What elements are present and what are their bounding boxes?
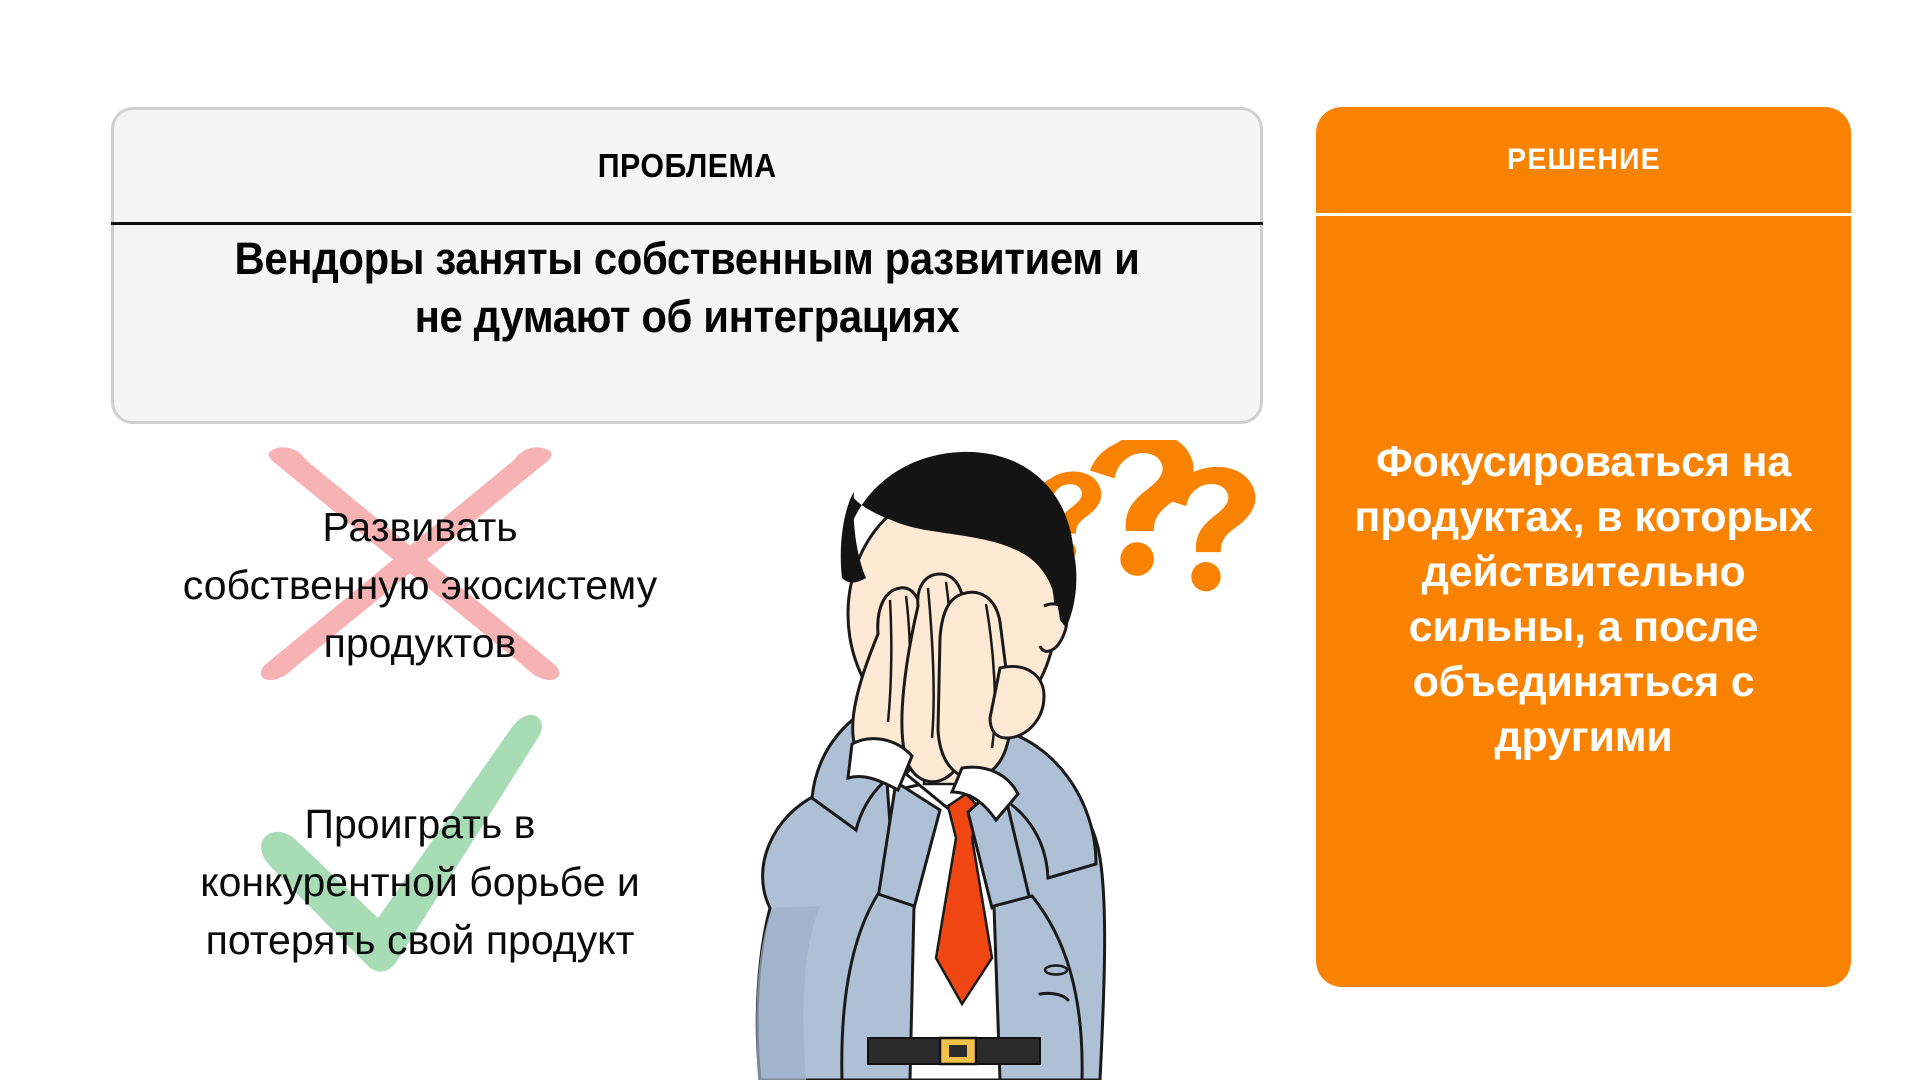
problem-statement-line-1: Вендоры заняты собственным развитием и	[178, 230, 1195, 288]
positive-statement-line-1: Проиграть в	[120, 795, 720, 853]
solution-card-header: РЕШЕНИЕ	[1316, 107, 1851, 213]
solution-card-body: Фокусироваться на продуктах, в которых д…	[1316, 213, 1851, 987]
positive-statement-line-3: потерять свой продукт	[120, 911, 720, 969]
negative-statement: Развивать собственную экосистему продукт…	[96, 498, 744, 672]
problem-statement-line-2: не думают об интеграциях	[178, 288, 1195, 346]
negative-statement-line-1: Развивать	[96, 498, 744, 556]
problem-card-body: Вендоры заняты собственным развитием и н…	[114, 230, 1260, 346]
problem-card: ПРОБЛЕМА Вендоры заняты собственным разв…	[111, 107, 1263, 424]
positive-statement-line-2: конкурентной борьбе и	[120, 853, 720, 911]
facepalm-businessman-illustration	[700, 438, 1160, 1080]
slide-canvas: ПРОБЛЕМА Вендоры заняты собственным разв…	[0, 0, 1920, 1080]
negative-statement-line-3: продуктов	[96, 614, 744, 672]
problem-card-header: ПРОБЛЕМА	[114, 110, 1260, 222]
negative-statement-line-2: собственную экосистему	[96, 556, 744, 614]
solution-statement-text: Фокусироваться на продуктах, в которых д…	[1352, 435, 1815, 765]
solution-card: РЕШЕНИЕ Фокусироваться на продуктах, в к…	[1316, 107, 1851, 987]
problem-card-title: ПРОБЛЕМА	[598, 147, 777, 185]
problem-card-divider	[111, 222, 1263, 225]
positive-statement: Проиграть в конкурентной борьбе и потеря…	[120, 795, 720, 969]
solution-card-title: РЕШЕНИЕ	[1507, 143, 1661, 177]
